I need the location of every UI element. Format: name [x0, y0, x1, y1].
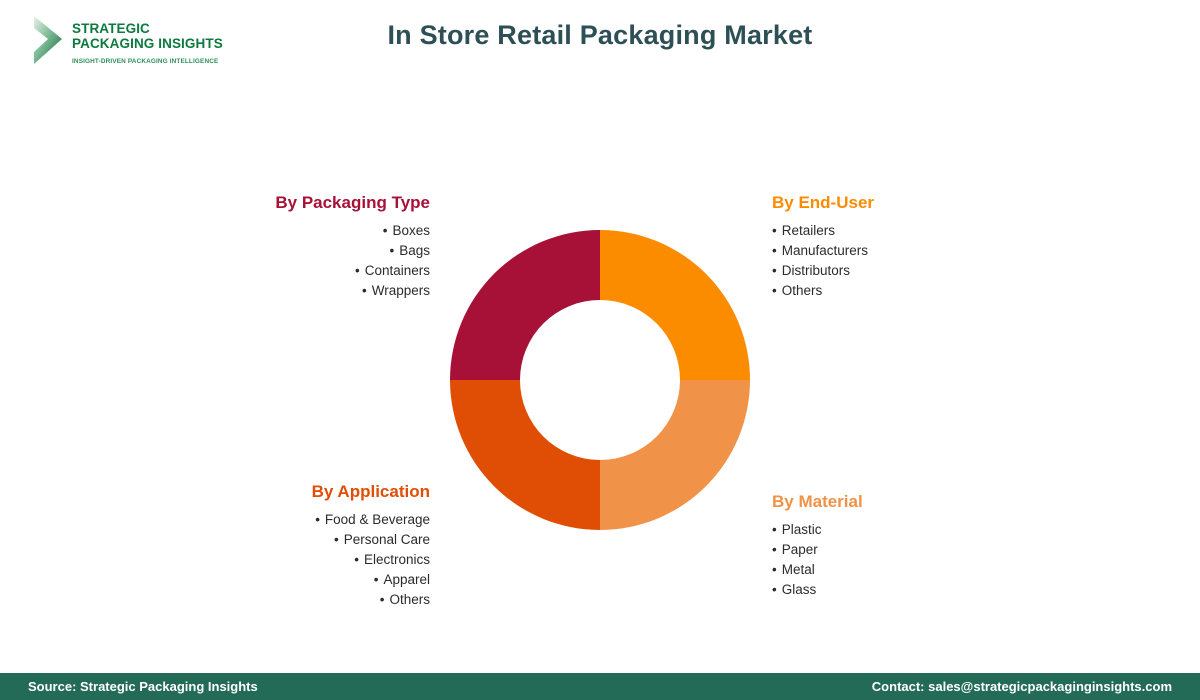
list-item: Others	[170, 590, 430, 610]
donut-slice-end-user	[600, 230, 750, 380]
list-item: Boxes	[170, 221, 430, 241]
list-item: Metal	[772, 560, 1052, 580]
list-item: Distributors	[772, 261, 1052, 281]
donut-slice-packaging-type	[450, 230, 600, 380]
segment-block-end-user: By End-User Retailers Manufacturers Dist…	[772, 193, 1052, 301]
donut-slice-application	[450, 380, 600, 530]
segment-block-packaging-type: By Packaging Type Boxes Bags Containers …	[170, 193, 430, 301]
segment-list-end-user: Retailers Manufacturers Distributors Oth…	[772, 221, 1052, 301]
list-item: Bags	[170, 241, 430, 261]
list-item: Manufacturers	[772, 241, 1052, 261]
list-item: Apparel	[170, 570, 430, 590]
segment-block-material: By Material Plastic Paper Metal Glass	[772, 492, 1052, 600]
segment-title-application: By Application	[170, 482, 430, 502]
list-item: Plastic	[772, 520, 1052, 540]
list-item: Personal Care	[170, 530, 430, 550]
segment-block-application: By Application Food & Beverage Personal …	[170, 482, 430, 610]
footer-contact: Contact: sales@strategicpackaginginsight…	[872, 679, 1172, 694]
segment-list-material: Plastic Paper Metal Glass	[772, 520, 1052, 600]
list-item: Retailers	[772, 221, 1052, 241]
brand-tagline: INSIGHT-DRIVEN PACKAGING INTELLIGENCE	[72, 58, 223, 65]
list-item: Wrappers	[170, 281, 430, 301]
donut-chart	[450, 230, 750, 530]
list-item: Glass	[772, 580, 1052, 600]
footer-source: Source: Strategic Packaging Insights	[28, 679, 258, 694]
list-item: Others	[772, 281, 1052, 301]
list-item: Containers	[170, 261, 430, 281]
list-item: Electronics	[170, 550, 430, 570]
list-item: Food & Beverage	[170, 510, 430, 530]
donut-slice-material	[600, 380, 750, 530]
footer-bar: Source: Strategic Packaging Insights Con…	[0, 673, 1200, 700]
segment-list-application: Food & Beverage Personal Care Electronic…	[170, 510, 430, 610]
segment-list-packaging-type: Boxes Bags Containers Wrappers	[170, 221, 430, 301]
page-title: In Store Retail Packaging Market	[0, 20, 1200, 51]
segment-title-packaging-type: By Packaging Type	[170, 193, 430, 213]
list-item: Paper	[772, 540, 1052, 560]
segment-title-end-user: By End-User	[772, 193, 1052, 213]
segment-title-material: By Material	[772, 492, 1052, 512]
